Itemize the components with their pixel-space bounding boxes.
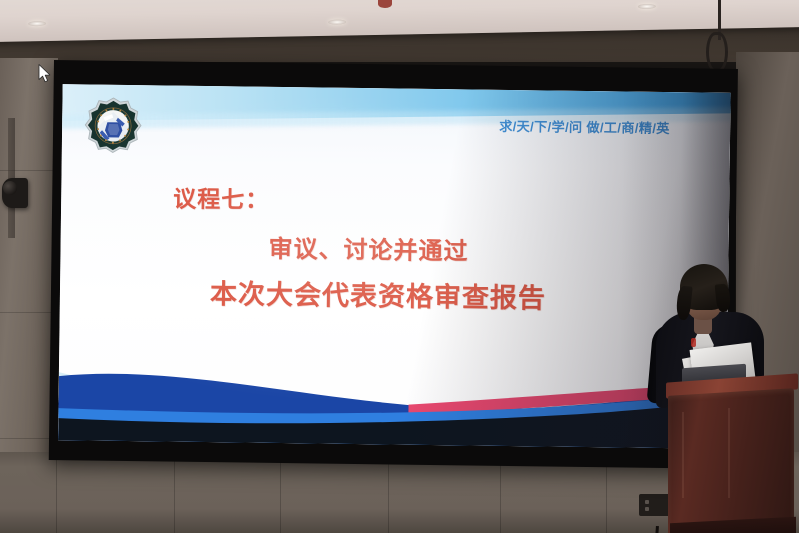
presenter-and-podium <box>630 250 799 533</box>
podium-body <box>668 388 794 533</box>
microphone-indicator-light <box>691 338 696 347</box>
wall-panel-seam <box>56 455 57 533</box>
mouse-pointer-icon <box>38 64 51 83</box>
ceiling-hook <box>706 32 728 72</box>
wall-panel-seam <box>388 455 389 533</box>
agenda-heading: 议程七： <box>173 180 269 215</box>
podium-panel-seam <box>682 412 684 498</box>
university-emblem-icon <box>84 96 143 155</box>
ceiling-light-3 <box>638 4 656 9</box>
wall-panel-seam <box>174 455 175 533</box>
ceiling-red-marker <box>378 0 392 8</box>
wall-speaker <box>2 178 28 208</box>
agenda-line-2: 审议、讨论并通过 <box>268 229 468 267</box>
wall-seam <box>0 312 58 313</box>
wall-panel-seam <box>500 455 501 533</box>
screenshot-root: 求/天/下/学/问 做/工/商/精/英 议程七： 审议、讨论并通过 本次大会代表… <box>0 0 799 533</box>
agenda-line-3: 本次大会代表资格审查报告 <box>210 272 546 315</box>
wall-panel-seam <box>280 455 281 533</box>
podium-panel-seam <box>728 408 730 498</box>
ceiling-light-1 <box>28 21 46 26</box>
ceiling-light-2 <box>328 19 346 24</box>
podium-cable <box>652 526 659 533</box>
